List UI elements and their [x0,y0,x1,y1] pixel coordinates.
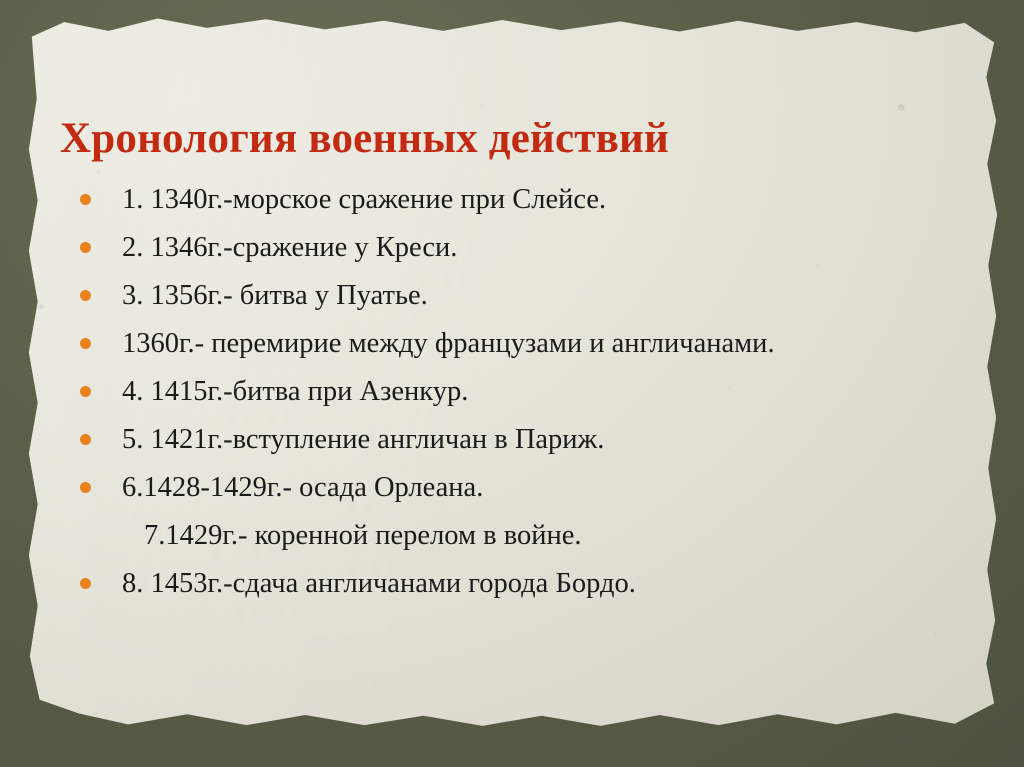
list-item: 1360г.- перемирие между французами и анг… [64,322,964,368]
list-item: 3. 1356г.- битва у Пуатье. [64,274,964,320]
list-item: 7.1429г.- коренной перелом в войне. [64,514,964,560]
slide-title: Хронология военных действий [60,115,960,163]
list-item-text: 4. 1415г.-битва при Азенкур. [122,370,964,412]
bullet-icon [80,578,91,589]
list-item: 4. 1415г.-битва при Азенкур. [64,370,964,416]
bullet-cell [64,226,122,253]
bullet-icon [80,242,91,253]
list-item: 5. 1421г.-вступление англичан в Париж. [64,418,964,464]
list-item: 2. 1346г.-сражение у Креси. [64,226,964,272]
list-item-text: 6.1428-1429г.- осада Орлеана. [122,466,964,508]
slide-canvas: Хронология военных действий 1. 1340г.-мо… [0,0,1024,767]
bullet-cell [64,466,122,493]
bullet-icon [80,194,91,205]
bullet-icon [80,338,91,349]
list-item-text: 5. 1421г.-вступление англичан в Париж. [122,418,964,460]
list-item: 1. 1340г.-морское сражение при Слейсе. [64,178,964,224]
list-item-text: 3. 1356г.- битва у Пуатье. [122,274,964,316]
list-item-text: 8. 1453г.-сдача англичанами города Бордо… [122,562,964,604]
bullet-cell [64,562,122,589]
list-item: 6.1428-1429г.- осада Орлеана. [64,466,964,512]
bullet-cell [64,274,122,301]
bullet-cell [64,322,122,349]
bullet-cell [64,418,122,445]
list-item-text: 1. 1340г.-морское сражение при Слейсе. [122,178,964,220]
bullet-icon [80,530,91,541]
list-item: 8. 1453г.-сдача англичанами города Бордо… [64,562,964,608]
bullet-icon [80,290,91,301]
bullet-cell [64,370,122,397]
bullet-cell [64,514,122,541]
list-item-text: 2. 1346г.-сражение у Креси. [122,226,964,268]
bullet-cell [64,178,122,205]
paper-sheet: Хронология военных действий 1. 1340г.-мо… [20,12,1004,736]
bullet-icon [80,434,91,445]
list-item-text: 1360г.- перемирие между французами и анг… [122,322,964,364]
list-item-text: 7.1429г.- коренной перелом в войне. [122,514,964,556]
timeline-list: 1. 1340г.-морское сражение при Слейсе.2.… [64,178,964,610]
bullet-icon [80,482,91,493]
bullet-icon [80,386,91,397]
